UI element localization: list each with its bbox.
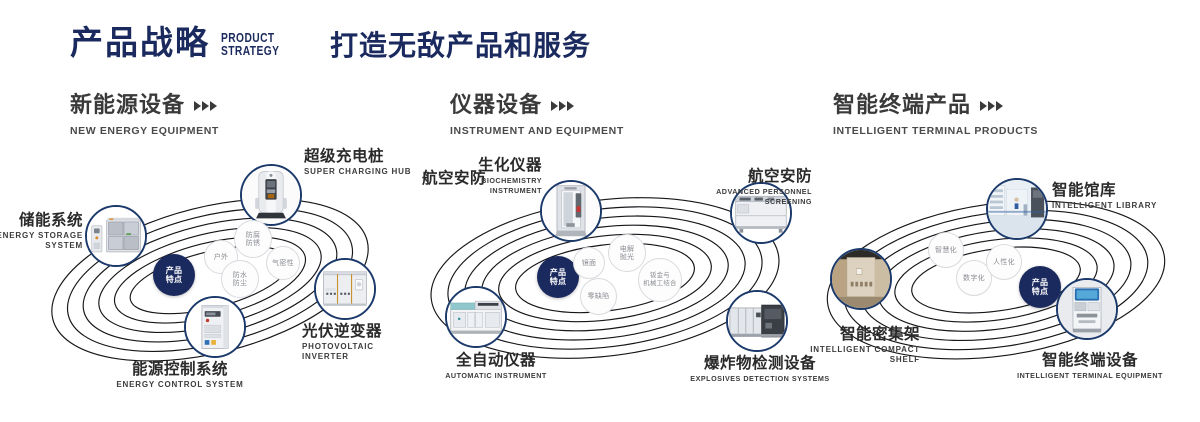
label-automatic-instrument: 全自动仪器 AUTOMATIC INSTRUMENT: [396, 352, 596, 381]
section-heading-intelligent: 智能终端产品 INTELLIGENT TERMINAL PRODUCTS: [833, 95, 1038, 137]
feature-bubble-mirror[interactable]: 镜面: [573, 247, 605, 279]
diagram-group-new-energy: 产品 特点 户外 防腐 防锈 防水 防尘 气密性 储能系统 ENERGY STO…: [0, 150, 420, 410]
label-cn: 全自动仪器: [396, 352, 596, 369]
photovoltaic-inverter-cabinet-photo: [316, 260, 374, 318]
chevron-right-icon: [194, 101, 217, 111]
section-heading-new-energy: 新能源设备 NEW ENERGY EQUIPMENT: [70, 95, 219, 137]
feature-bubble-intelligent[interactable]: 智慧化: [928, 232, 964, 268]
feature-bubble-anticorrosion[interactable]: 防腐 防锈: [234, 220, 272, 258]
label-intelligent-library: 智能馆库 INTELLIGENT LIBRARY: [1052, 182, 1157, 211]
core-bubble-product-features[interactable]: 产品 特点: [1019, 266, 1061, 308]
diagram-group-intelligent: 产品 特点 智慧化 数字化 人性化 智能馆库 INTELLIGENT LIBRA…: [800, 150, 1200, 410]
feature-bubble-label: 防水 防尘: [233, 271, 248, 288]
label-cn: 储能系统: [0, 212, 83, 229]
label-cn: 生化仪器: [454, 157, 542, 174]
page-subtitle: 打造无敌产品和服务: [330, 32, 591, 60]
feature-bubble-label: 户外: [214, 253, 229, 262]
feature-bubble-label: 气密性: [272, 259, 294, 268]
intelligent-library-interior-photo: [988, 180, 1046, 238]
label-cn: 智能密集架: [792, 326, 920, 343]
core-bubble-product-features[interactable]: 产品 特点: [153, 254, 195, 296]
label-energy-control-system: 能源控制系统 ENERGY CONTROL SYSTEM: [85, 361, 275, 390]
core-bubble-label: 产品 特点: [166, 266, 183, 285]
biochemistry-scanner-photo: [542, 182, 600, 240]
chevron-right-icon: [551, 101, 574, 111]
feature-bubble-waterproof[interactable]: 防水 防尘: [221, 260, 259, 298]
label-en: ENERGY STORAGE SYSTEM: [0, 231, 83, 251]
feature-bubble-label: 人性化: [993, 258, 1015, 267]
feature-bubble-zero-defect[interactable]: 零缺陷: [580, 278, 617, 315]
label-energy-storage-system: 储能系统 ENERGY STORAGE SYSTEM: [0, 212, 83, 251]
diagram-group-instrument: 产品 特点 镜面 电解 抛光 零缺陷 钣金与 机械工结合 航空安防 生化仪器 B…: [400, 150, 820, 410]
label-en: AUTOMATIC INSTRUMENT: [396, 371, 596, 381]
label-cn: 能源控制系统: [85, 361, 275, 378]
section-heading-instrument: 仪器设备 INSTRUMENT AND EQUIPMENT: [450, 95, 624, 137]
node-biochemistry-instrument[interactable]: [540, 180, 602, 242]
label-cn: 智能终端设备: [982, 352, 1198, 369]
feature-bubble-label: 零缺陷: [588, 292, 610, 301]
label-biochemistry-instrument: 生化仪器 BIOCHEMISTRY INSTRUMENT: [454, 157, 542, 196]
label-en: INTELLIGENT LIBRARY: [1052, 201, 1157, 211]
page-title-en-line1: PRODUCT: [221, 32, 279, 45]
node-energy-control-system[interactable]: [184, 296, 246, 358]
feature-bubble-electropolishing[interactable]: 电解 抛光: [608, 234, 646, 272]
section-title-cn: 智能终端产品: [833, 95, 971, 117]
node-automatic-instrument[interactable]: [445, 286, 507, 348]
feature-bubble-label: 智慧化: [935, 246, 957, 255]
feature-bubble-label: 防腐 防锈: [246, 231, 261, 248]
label-en: INTELLIGENT TERMINAL EQUIPMENT: [982, 371, 1198, 381]
node-explosives-detection[interactable]: [726, 290, 788, 352]
label-en: ENERGY CONTROL SYSTEM: [85, 380, 275, 390]
feature-bubble-airtight[interactable]: 气密性: [266, 246, 300, 280]
label-intelligent-terminal-equipment: 智能终端设备 INTELLIGENT TERMINAL EQUIPMENT: [982, 352, 1198, 381]
section-title-en: NEW ENERGY EQUIPMENT: [70, 125, 219, 137]
automatic-instrument-bench-photo: [447, 288, 505, 346]
section-title-cn: 新能源设备: [70, 95, 185, 117]
page-title-cn: 产品战略: [70, 26, 210, 59]
label-advanced-personnel-screening: 航空安防 ADVANCED PERSONNEL SCREENING: [650, 168, 812, 207]
compact-shelving-interior-photo: [832, 250, 890, 308]
self-service-kiosk-photo: [1058, 280, 1116, 338]
feature-bubble-humanized[interactable]: 人性化: [986, 244, 1022, 280]
energy-storage-cabinet-photo: [87, 207, 145, 265]
page-title-en-line2: STRATEGY: [221, 45, 279, 58]
node-super-charging-hub[interactable]: [240, 164, 302, 226]
energy-control-cabinet-photo: [186, 298, 244, 356]
node-energy-storage-system[interactable]: [85, 205, 147, 267]
label-cn: 航空安防: [650, 168, 812, 185]
chevron-right-icon: [980, 101, 1003, 111]
label-intelligent-compact-shelf: 智能密集架 INTELLIGENT COMPACT SHELF: [792, 326, 920, 365]
label-en: INTELLIGENT COMPACT SHELF: [792, 345, 920, 365]
section-heading-row: 智能终端产品: [833, 95, 1038, 117]
feature-bubble-label: 钣金与 机械工结合: [643, 272, 676, 287]
feature-bubble-label: 数字化: [963, 274, 985, 283]
node-intelligent-library[interactable]: [986, 178, 1048, 240]
label-cn: 超级充电桩: [304, 148, 411, 165]
section-title-en: INTELLIGENT TERMINAL PRODUCTS: [833, 125, 1038, 137]
super-charging-pile-photo: [242, 166, 300, 224]
section-heading-row: 新能源设备: [70, 95, 219, 117]
poster-canvas: 产品战略 PRODUCT STRATEGY 打造无敌产品和服务 新能源设备 NE…: [0, 0, 1200, 422]
core-bubble-label: 产品 特点: [1032, 278, 1049, 297]
label-cn: 智能馆库: [1052, 182, 1157, 199]
core-bubble-label: 产品 特点: [550, 268, 567, 287]
label-en: ADVANCED PERSONNEL SCREENING: [650, 187, 812, 207]
page-title-en: PRODUCT STRATEGY: [221, 32, 279, 57]
node-intelligent-terminal-equipment[interactable]: [1056, 278, 1118, 340]
feature-bubble-sheetmetal[interactable]: 钣金与 机械工结合: [638, 258, 682, 302]
feature-bubble-label: 电解 抛光: [620, 245, 635, 262]
explosives-detection-unit-photo: [728, 292, 786, 350]
feature-bubble-label: 镜面: [582, 259, 597, 268]
label-en: BIOCHEMISTRY INSTRUMENT: [454, 176, 542, 196]
section-title-en: INSTRUMENT AND EQUIPMENT: [450, 125, 624, 137]
node-intelligent-compact-shelf[interactable]: [830, 248, 892, 310]
section-title-cn: 仪器设备: [450, 95, 542, 117]
node-photovoltaic-inverter[interactable]: [314, 258, 376, 320]
section-heading-row: 仪器设备: [450, 95, 624, 117]
page-title: 产品战略 PRODUCT STRATEGY: [70, 26, 292, 59]
